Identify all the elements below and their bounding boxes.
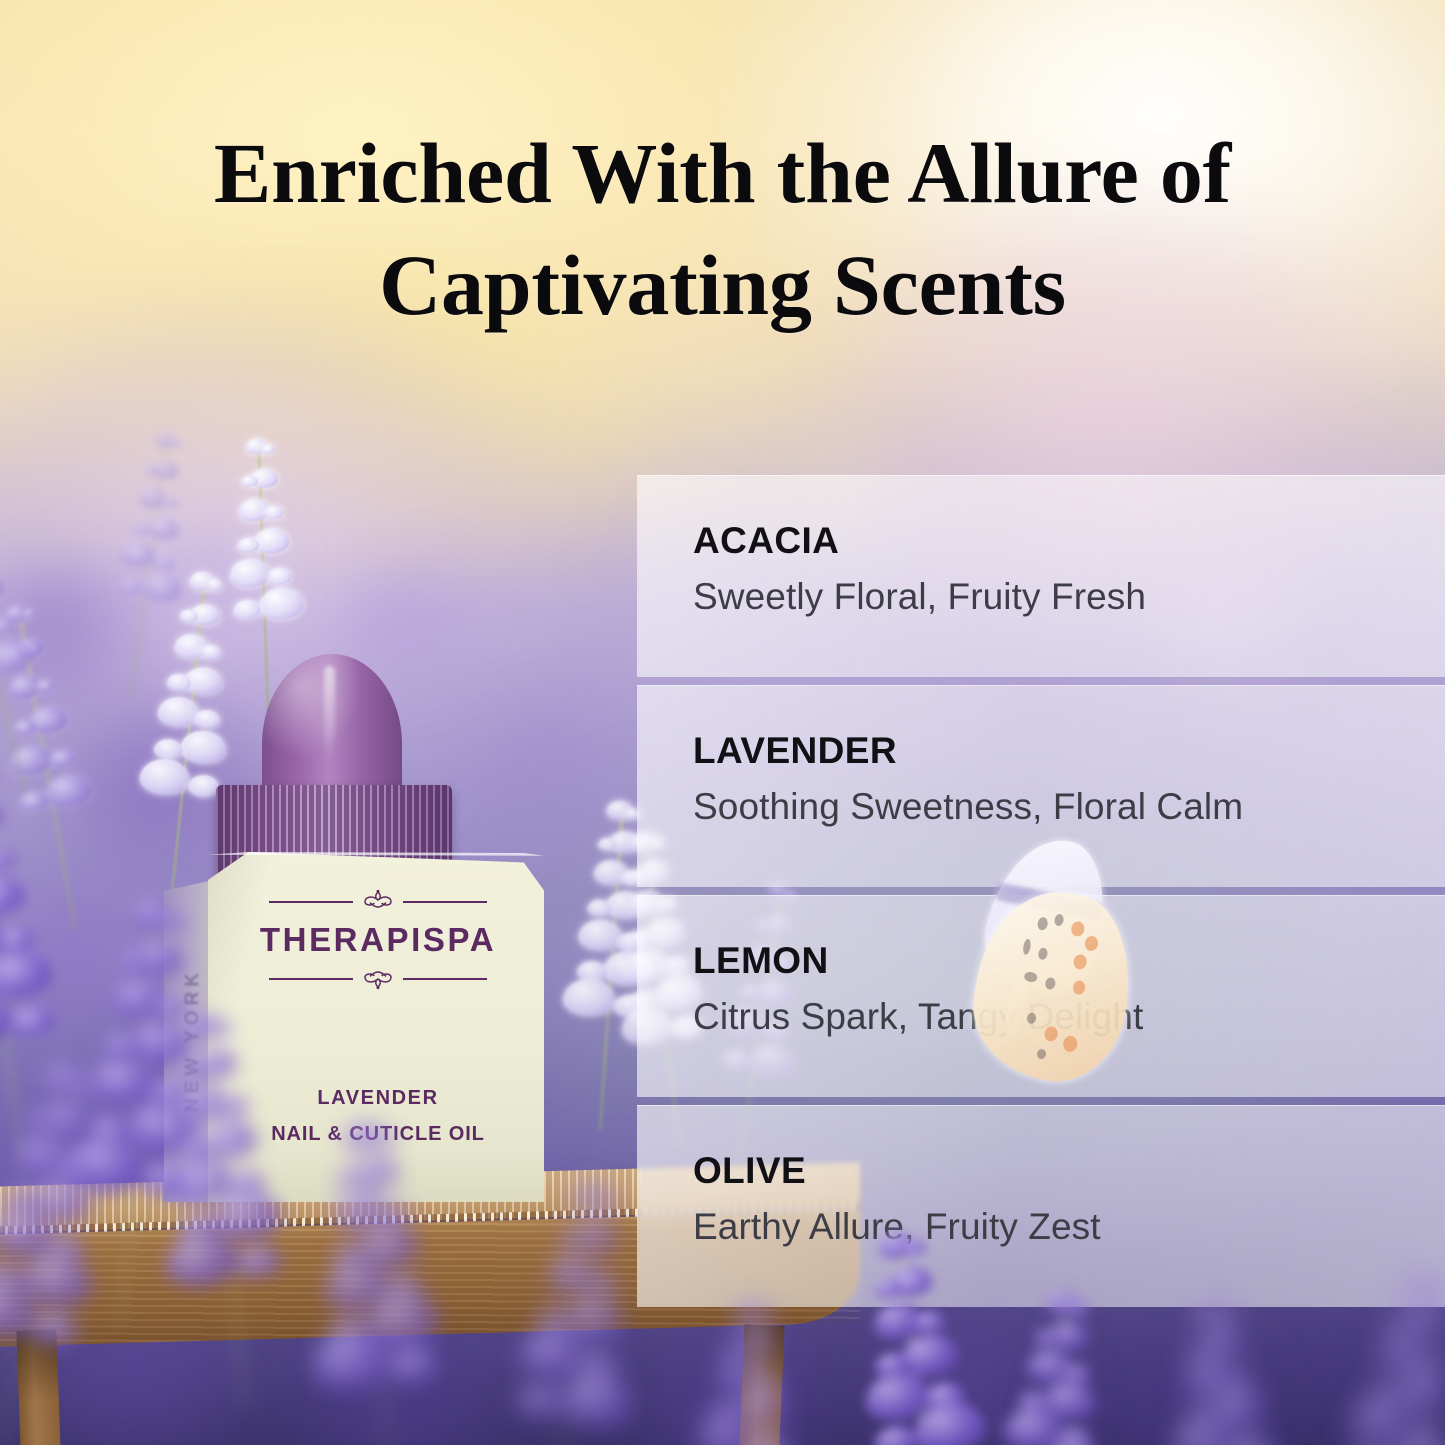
lavender-floret — [237, 537, 260, 553]
scent-description: Sweetly Floral, Fruity Fresh — [693, 576, 1445, 617]
lavender-floret — [116, 577, 143, 598]
knot-ornament-icon — [350, 889, 406, 913]
lavender-floret — [18, 789, 50, 814]
bench-leg-left — [16, 1329, 63, 1445]
lavender-floret — [253, 527, 289, 554]
butterfly-icon — [955, 838, 1170, 1083]
headline-line-1: Enriched With the Allure of — [214, 125, 1231, 221]
scent-title: ACACIA — [693, 522, 1445, 559]
lavender-floret — [160, 495, 179, 510]
scent-title: LAVENDER — [693, 732, 1445, 769]
product-bottle: NEW YORK — [150, 640, 550, 1200]
scent-panel[interactable]: OLIVEEarthy Allure, Fruity Zest — [637, 1105, 1445, 1307]
scent-description: Soothing Sweetness, Floral Calm — [693, 786, 1445, 827]
scent-title: OLIVE — [693, 1152, 1445, 1189]
product-description: NAIL & CUTICLE OIL — [228, 1123, 528, 1146]
product-marketing-image: NEW YORK — [0, 0, 1445, 1445]
headline-line-2: Captivating Scents — [379, 237, 1066, 333]
lavender-floret — [152, 553, 176, 572]
flourish-ornament-top-icon — [269, 888, 487, 914]
lavender-floret — [206, 579, 223, 592]
lavender-floret — [267, 567, 292, 585]
bottle-label: THERAPISPA LAVENDER NAIL & CUT — [228, 888, 528, 1146]
leg-shading — [16, 1329, 63, 1445]
product-variant: LAVENDER — [228, 1087, 528, 1110]
scent-panel[interactable]: ACACIASweetly Floral, Fruity Fresh — [637, 475, 1445, 677]
page-title: Enriched With the Allure of Captivating … — [0, 118, 1445, 342]
lavender-floret — [264, 505, 284, 519]
knot-ornament-icon — [350, 966, 406, 990]
bottle-body: NEW YORK — [164, 852, 544, 1202]
lavender-floret — [0, 572, 6, 607]
bench-leg-right — [735, 1324, 784, 1445]
dropper-cap-dome — [262, 654, 402, 804]
lavender-floret — [0, 614, 16, 638]
lavender-floret — [261, 443, 276, 453]
leg-shading — [735, 1324, 784, 1445]
scent-description: Earthy Allure, Fruity Zest — [693, 1206, 1445, 1247]
brand-name: THERAPISPA — [228, 921, 528, 959]
flourish-ornament-bottom-icon — [269, 965, 487, 991]
bottle-origin-text: NEW YORK — [182, 968, 204, 1112]
